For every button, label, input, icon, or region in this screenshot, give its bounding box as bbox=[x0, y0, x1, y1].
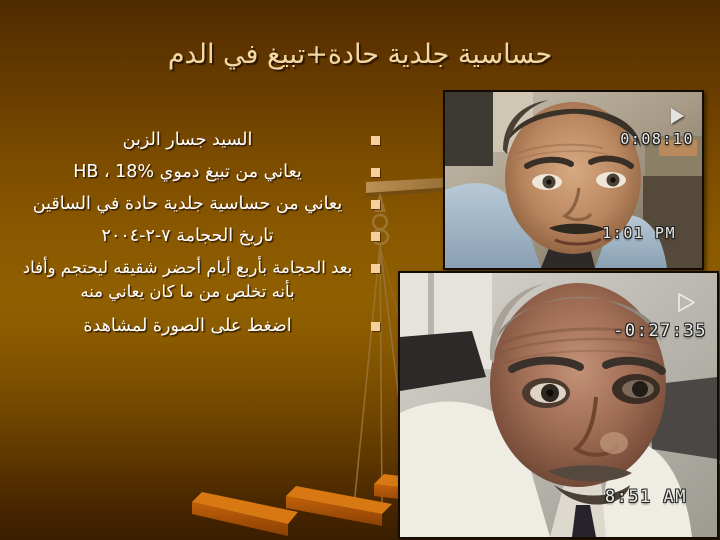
video-clock: 1:01 PM bbox=[602, 224, 676, 242]
video-clock: 8:51 AM bbox=[605, 487, 687, 507]
bullet-marker-icon bbox=[371, 136, 380, 145]
list-item-label: يعاني من حساسية جلدية حادة في الساقين bbox=[14, 192, 361, 217]
list-item-label: السيد جسار الزبن bbox=[14, 128, 361, 153]
play-triangle-icon bbox=[671, 108, 684, 124]
video-timecode: 0:08:10 bbox=[620, 130, 694, 148]
video-thumbnail-top[interactable]: 0:08:10 1:01 PM bbox=[443, 90, 704, 270]
play-triangle-outline-icon bbox=[678, 293, 695, 312]
presentation-slide: حساسية جلدية حادة+تبيغ في الدم السيد جسا… bbox=[0, 0, 720, 540]
list-item-label: تاريخ الحجامة ٧-٢-٢٠٠٤ bbox=[14, 224, 361, 249]
video-thumbnail-bottom[interactable]: -0:27:35 8:51 AM bbox=[398, 271, 719, 539]
video-timecode: -0:27:35 bbox=[613, 321, 707, 341]
bullet-marker-icon bbox=[371, 264, 380, 273]
list-item: يعاني من تبيغ دموي HB ، 18% bbox=[14, 160, 380, 185]
bullet-marker-icon bbox=[371, 200, 380, 209]
slide-title: حساسية جلدية حادة+تبيغ في الدم bbox=[40, 38, 680, 72]
list-item-label: يعاني من تبيغ دموي HB ، 18% bbox=[14, 160, 361, 185]
list-item: يعاني من حساسية جلدية حادة في الساقين bbox=[14, 192, 380, 217]
bullet-marker-icon bbox=[371, 322, 380, 331]
list-item: بعد الحجامة بأربع أيام أحضر شقيقه ليحتجم… bbox=[14, 256, 380, 304]
bullet-marker-icon bbox=[371, 168, 380, 177]
bullet-marker-icon bbox=[371, 232, 380, 241]
slide-body: السيد جسار الزبن يعاني من تبيغ دموي HB ،… bbox=[14, 128, 380, 346]
list-item: اضغط على الصورة لمشاهدة bbox=[14, 314, 380, 339]
list-item-label: اضغط على الصورة لمشاهدة bbox=[14, 314, 361, 339]
list-item: السيد جسار الزبن bbox=[14, 128, 380, 153]
list-item-label: بعد الحجامة بأربع أيام أحضر شقيقه ليحتجم… bbox=[14, 256, 361, 304]
list-item: تاريخ الحجامة ٧-٢-٢٠٠٤ bbox=[14, 224, 380, 249]
